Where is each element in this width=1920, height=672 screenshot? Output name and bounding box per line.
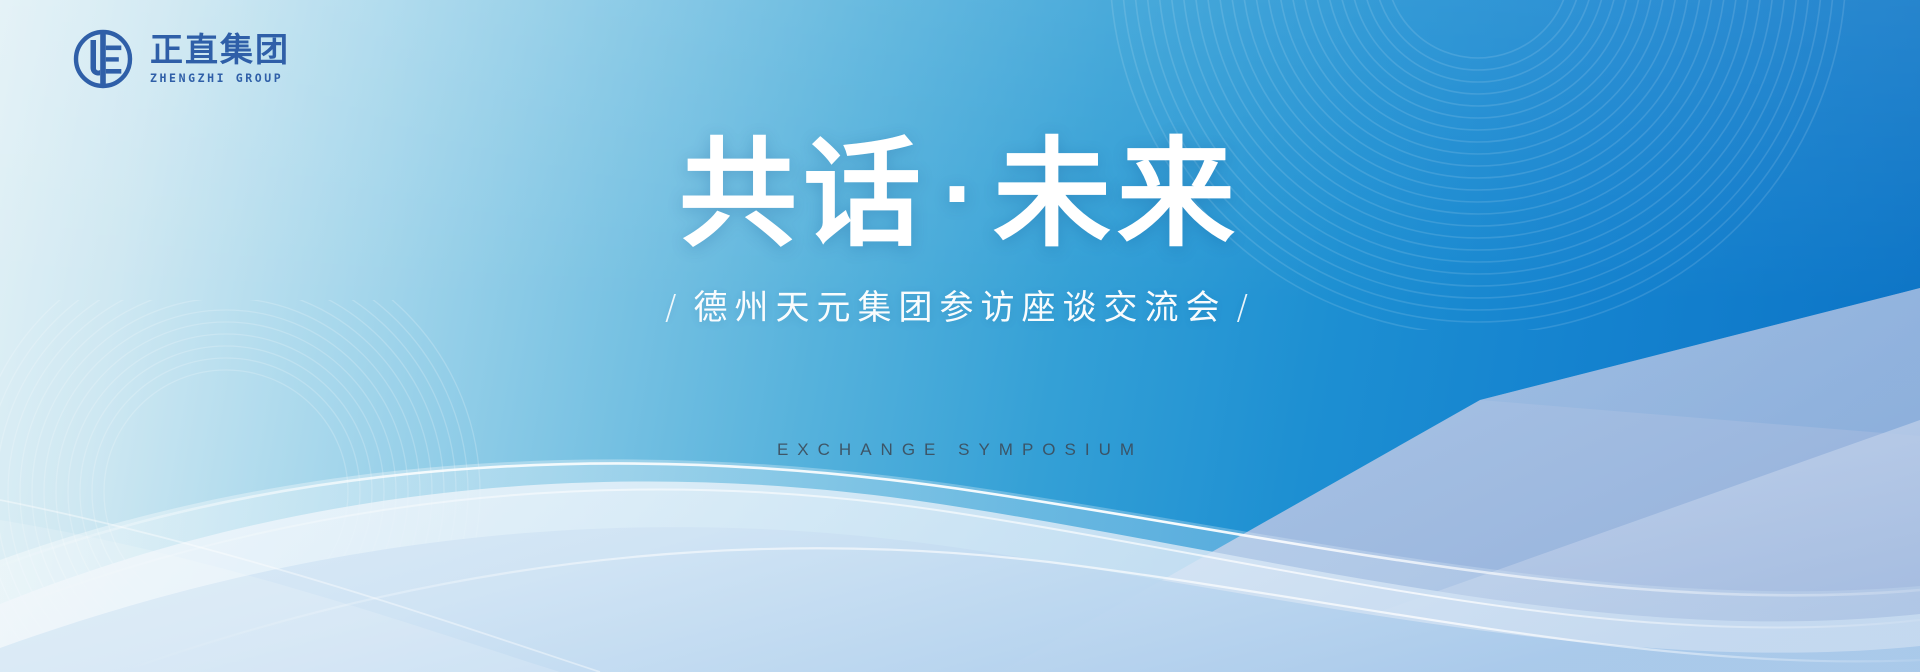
company-logo[interactable]: 正直集团 ZHENGZHI GROUP xyxy=(72,28,290,90)
logo-wordmark: 正直集团 ZHENGZHI GROUP xyxy=(150,33,290,84)
zhengzhi-circular-emblem-icon xyxy=(72,28,134,90)
company-name-en: ZHENGZHI GROUP xyxy=(150,72,290,85)
company-name-cn: 正直集团 xyxy=(150,33,290,68)
wave-ribbons-decoration xyxy=(0,0,1920,672)
event-banner: 正直集团 ZHENGZHI GROUP 共话·未来 /德州天元集团参访座谈交流会… xyxy=(0,0,1920,672)
